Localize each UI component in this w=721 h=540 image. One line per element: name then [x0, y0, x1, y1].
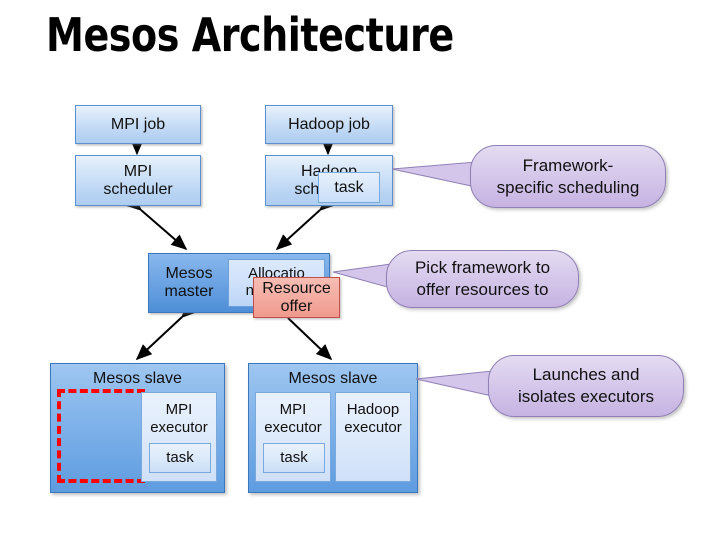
callout-3-line1: Launches and: [533, 364, 640, 386]
callout-launches-isolates[interactable]: Launches and isolates executors: [414, 355, 694, 435]
mpi-scheduler-box[interactable]: MPI scheduler: [75, 155, 201, 206]
mesos-master-label-line1: Mesos: [165, 265, 212, 283]
mpi-job-label: MPI job: [111, 116, 165, 134]
mpi-job-box[interactable]: MPI job: [75, 105, 201, 144]
mesos-slave-right-label: Mesos slave: [249, 370, 417, 388]
callout-pick-framework[interactable]: Pick framework to offer resources to: [331, 250, 601, 320]
hadoop-job-label: Hadoop job: [288, 116, 370, 134]
scheduler-task-box[interactable]: task: [318, 172, 380, 203]
hadoop-job-box[interactable]: Hadoop job: [265, 105, 393, 144]
right-mpi-task-box[interactable]: task: [263, 443, 325, 473]
callout-2-line1: Pick framework to: [415, 257, 550, 279]
left-mpi-executor-box[interactable]: MPI executor task: [141, 392, 217, 482]
left-mpi-executor-label-line2: executor: [150, 419, 208, 436]
mesos-master-label-line2: master: [165, 283, 214, 301]
right-mpi-executor-box[interactable]: MPI executor task: [255, 392, 331, 482]
slide-canvas: Mesos Architecture: [0, 0, 721, 540]
right-hadoop-executor-label-line2: executor: [344, 419, 402, 436]
right-hadoop-executor-box[interactable]: Hadoop executor: [335, 392, 411, 482]
empty-resource-slot: [57, 389, 145, 483]
resource-offer-label-line2: offer: [281, 298, 313, 316]
callout-framework-scheduling[interactable]: Framework- specific scheduling: [390, 145, 670, 225]
callout-1-line1: Framework-: [523, 155, 614, 177]
mesos-slave-left-label: Mesos slave: [51, 370, 224, 388]
arrow-hadoop-scheduler-master: [277, 210, 320, 249]
scheduler-task-label: task: [334, 179, 363, 197]
right-mpi-executor-label-line1: MPI: [280, 401, 307, 418]
resource-offer-box[interactable]: Resource offer: [253, 277, 340, 318]
arrow-master-left-slave: [137, 317, 182, 359]
resource-offer-label-line1: Resource: [262, 280, 330, 298]
left-mpi-task-box[interactable]: task: [149, 443, 211, 473]
callout-2-line2: offer resources to: [417, 279, 549, 301]
callout-1-line2: specific scheduling: [497, 177, 640, 199]
left-mpi-executor-label-line1: MPI: [166, 401, 193, 418]
left-mpi-task-label: task: [166, 450, 194, 467]
arrow-mpi-scheduler-master: [141, 210, 186, 249]
right-mpi-executor-label-line2: executor: [264, 419, 322, 436]
callout-pick-framework-body: Pick framework to offer resources to: [386, 250, 579, 308]
callout-launches-isolates-body: Launches and isolates executors: [488, 355, 684, 417]
arrow-master-right-slave: [288, 318, 331, 359]
mpi-scheduler-label-line1: MPI: [124, 163, 152, 181]
callout-framework-scheduling-body: Framework- specific scheduling: [470, 145, 666, 208]
right-hadoop-executor-label-line1: Hadoop: [347, 401, 400, 418]
mpi-scheduler-label-line2: scheduler: [103, 181, 172, 199]
callout-3-line2: isolates executors: [518, 386, 654, 408]
right-mpi-task-label: task: [280, 450, 308, 467]
